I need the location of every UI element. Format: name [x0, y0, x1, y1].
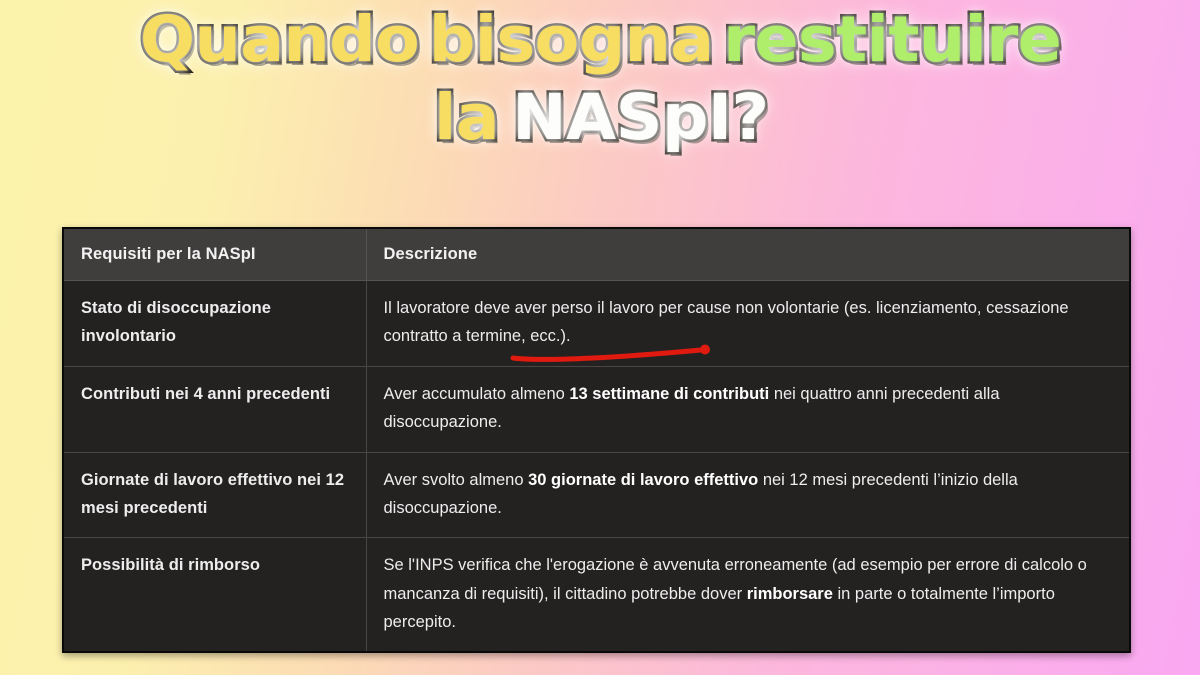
table-row: Giornate di lavoro effettivo nei 12 mesi… — [64, 452, 1129, 538]
descrizione-cell: Aver svolto almeno 30 giornate di lavoro… — [366, 452, 1129, 538]
requisito-cell: Possibilità di rimborso — [64, 538, 366, 652]
page-title: Quandobisognarestituire laNASpI? — [0, 8, 1200, 151]
column-header-descrizione: Descrizione — [366, 229, 1129, 281]
page-root: Quandobisognarestituire laNASpI? Requisi… — [0, 0, 1200, 675]
title-line-1: Quandobisognarestituire — [0, 8, 1200, 72]
descrizione-cell: Il lavoratore deve aver perso il lavoro … — [366, 281, 1129, 367]
table-header: Requisiti per la NASpI Descrizione — [64, 229, 1129, 281]
title-line-2-word-2: NASpI? — [512, 86, 768, 150]
column-header-requisiti: Requisiti per la NASpI — [64, 229, 366, 281]
table-header-row: Requisiti per la NASpI Descrizione — [64, 229, 1129, 281]
descrizione-text: Aver svolto almeno — [384, 471, 529, 489]
descrizione-text: Aver accumulato almeno — [384, 385, 570, 403]
requirements-table-card: Requisiti per la NASpI Descrizione Stato… — [62, 227, 1131, 653]
table-row: Stato di disoccupazione involontarioIl l… — [64, 281, 1129, 367]
table-row: Contributi nei 4 anni precedentiAver acc… — [64, 366, 1129, 452]
descrizione-emphasis: rimborsare — [747, 585, 833, 603]
title-line-1-word-2: bisogna — [429, 8, 714, 72]
requisito-cell: Contributi nei 4 anni precedenti — [64, 366, 366, 452]
title-line-1-word-1: Quando — [140, 8, 419, 72]
requisito-cell: Stato di disoccupazione involontario — [64, 281, 366, 367]
table-row: Possibilità di rimborsoSe l'INPS verific… — [64, 538, 1129, 652]
title-line-2-word-1: la — [434, 86, 499, 150]
requisito-cell: Giornate di lavoro effettivo nei 12 mesi… — [64, 452, 366, 538]
descrizione-cell: Aver accumulato almeno 13 settimane di c… — [366, 366, 1129, 452]
descrizione-emphasis: 13 settimane di contributi — [569, 385, 769, 403]
title-line-2: laNASpI? — [0, 86, 1200, 150]
descrizione-emphasis: 30 giornate di lavoro effettivo — [528, 471, 758, 489]
title-line-1-word-3: restituire — [723, 8, 1061, 72]
requirements-table: Requisiti per la NASpI Descrizione Stato… — [64, 229, 1129, 651]
descrizione-cell: Se l'INPS verifica che l'erogazione è av… — [366, 538, 1129, 652]
descrizione-text: Il lavoratore deve aver perso il lavoro … — [384, 299, 1069, 345]
table-body: Stato di disoccupazione involontarioIl l… — [64, 281, 1129, 652]
